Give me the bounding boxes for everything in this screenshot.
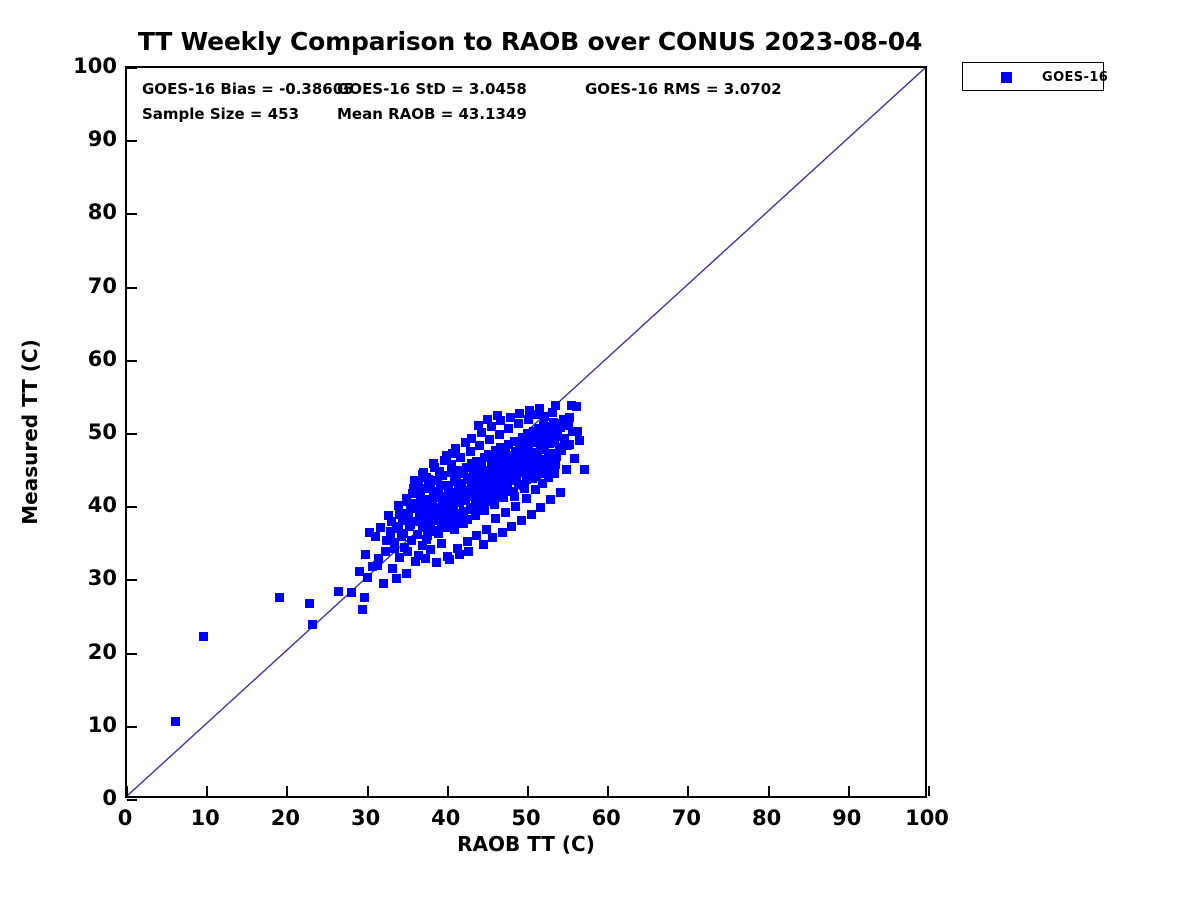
y-tick bbox=[127, 287, 137, 289]
data-point bbox=[505, 454, 514, 463]
y-tick bbox=[127, 653, 137, 655]
x-tick bbox=[447, 786, 449, 796]
y-tick-label: 40 bbox=[88, 493, 117, 517]
x-tick bbox=[848, 786, 850, 796]
data-point bbox=[575, 436, 584, 445]
data-point bbox=[450, 525, 459, 534]
y-tick bbox=[127, 579, 137, 581]
x-tick bbox=[687, 786, 689, 796]
y-tick bbox=[127, 360, 137, 362]
data-point bbox=[355, 567, 364, 576]
y-tick bbox=[127, 433, 137, 435]
data-point bbox=[361, 550, 370, 559]
data-point bbox=[422, 535, 431, 544]
data-point bbox=[488, 533, 497, 542]
x-tick-label: 100 bbox=[905, 806, 949, 830]
data-point bbox=[486, 466, 495, 475]
x-tick bbox=[928, 786, 930, 796]
data-point bbox=[467, 479, 476, 488]
data-point bbox=[531, 485, 540, 494]
data-point bbox=[445, 555, 454, 564]
data-point bbox=[562, 465, 571, 474]
x-tick-label: 50 bbox=[511, 806, 540, 830]
data-point bbox=[483, 495, 492, 504]
data-point bbox=[426, 545, 435, 554]
data-point bbox=[199, 632, 208, 641]
plot-frame bbox=[125, 66, 927, 798]
data-point bbox=[536, 503, 545, 512]
data-point bbox=[469, 503, 478, 512]
data-point bbox=[379, 579, 388, 588]
y-tick bbox=[127, 726, 137, 728]
data-point bbox=[507, 522, 516, 531]
data-point bbox=[447, 490, 456, 499]
data-point bbox=[475, 441, 484, 450]
x-tick bbox=[286, 786, 288, 796]
data-point bbox=[305, 599, 314, 608]
x-tick bbox=[768, 786, 770, 796]
data-point bbox=[463, 537, 472, 546]
data-point bbox=[437, 539, 446, 548]
legend-box: GOES-16 bbox=[962, 62, 1104, 91]
data-point bbox=[563, 441, 572, 450]
data-point bbox=[476, 473, 485, 482]
data-point bbox=[515, 448, 524, 457]
x-tick-label: 60 bbox=[592, 806, 621, 830]
data-point bbox=[402, 497, 411, 506]
data-point bbox=[457, 484, 466, 493]
data-point bbox=[438, 521, 447, 530]
x-tick-label: 80 bbox=[752, 806, 781, 830]
data-point bbox=[428, 502, 437, 511]
data-point bbox=[506, 413, 515, 422]
data-point bbox=[374, 554, 383, 563]
data-point bbox=[534, 436, 543, 445]
data-point bbox=[360, 593, 369, 602]
data-point bbox=[556, 488, 565, 497]
data-point bbox=[414, 551, 423, 560]
data-point bbox=[459, 519, 468, 528]
data-point bbox=[572, 402, 581, 411]
data-point bbox=[541, 466, 550, 475]
data-point bbox=[432, 558, 441, 567]
data-point bbox=[501, 508, 510, 517]
y-tick-label: 100 bbox=[73, 54, 117, 78]
annotation-rms: GOES-16 RMS = 3.0702 bbox=[585, 80, 782, 98]
data-point bbox=[461, 438, 470, 447]
data-point bbox=[455, 550, 464, 559]
data-point bbox=[524, 442, 533, 451]
data-point bbox=[510, 492, 519, 501]
x-tick bbox=[607, 786, 609, 796]
data-point bbox=[464, 547, 473, 556]
data-point bbox=[503, 482, 512, 491]
data-point bbox=[403, 547, 412, 556]
data-point bbox=[542, 455, 551, 464]
data-point bbox=[504, 424, 513, 433]
legend-swatch-goes-16 bbox=[1001, 72, 1012, 83]
plot-area bbox=[127, 68, 925, 796]
y-tick bbox=[127, 799, 137, 801]
data-point bbox=[514, 419, 523, 428]
data-point bbox=[483, 415, 492, 424]
y-tick-label: 30 bbox=[88, 566, 117, 590]
data-point bbox=[334, 587, 343, 596]
data-point bbox=[440, 456, 449, 465]
data-point bbox=[540, 412, 549, 421]
x-tick bbox=[206, 786, 208, 796]
x-tick-label: 20 bbox=[271, 806, 300, 830]
y-tick bbox=[127, 506, 137, 508]
data-point bbox=[358, 605, 367, 614]
data-point bbox=[451, 515, 460, 524]
annotation-bias: GOES-16 Bias = -0.38605 bbox=[142, 80, 354, 98]
annotation-mean-raob: Mean RAOB = 43.1349 bbox=[337, 105, 527, 123]
data-point bbox=[456, 453, 465, 462]
data-point bbox=[570, 454, 579, 463]
data-point bbox=[544, 430, 553, 439]
data-point bbox=[392, 574, 401, 583]
data-point bbox=[408, 489, 417, 498]
data-point bbox=[474, 421, 483, 430]
data-point bbox=[532, 472, 541, 481]
x-tick bbox=[367, 786, 369, 796]
data-point bbox=[308, 620, 317, 629]
x-tick-label: 70 bbox=[672, 806, 701, 830]
data-point bbox=[573, 427, 582, 436]
data-point bbox=[580, 465, 589, 474]
data-point bbox=[480, 506, 489, 515]
data-point bbox=[559, 419, 568, 428]
y-axis-label: Measured TT (C) bbox=[18, 339, 42, 524]
data-point bbox=[517, 516, 526, 525]
data-point bbox=[419, 468, 428, 477]
y-tick-label: 50 bbox=[88, 420, 117, 444]
data-point bbox=[495, 460, 504, 469]
data-point bbox=[479, 540, 488, 549]
data-point bbox=[493, 411, 502, 420]
data-point bbox=[371, 532, 380, 541]
data-point bbox=[525, 406, 534, 415]
y-tick-label: 0 bbox=[102, 786, 117, 810]
y-tick-label: 80 bbox=[88, 200, 117, 224]
y-tick-label: 10 bbox=[88, 713, 117, 737]
x-tick-label: 30 bbox=[351, 806, 380, 830]
data-point bbox=[376, 523, 385, 532]
scatter-plot-figure: TT Weekly Comparison to RAOB over CONUS … bbox=[0, 0, 1200, 900]
data-point bbox=[491, 514, 500, 523]
data-point bbox=[275, 593, 284, 602]
data-point bbox=[471, 511, 480, 520]
data-point bbox=[363, 573, 372, 582]
data-point bbox=[551, 460, 560, 469]
data-point bbox=[412, 503, 421, 512]
data-point bbox=[522, 494, 531, 503]
data-point bbox=[402, 569, 411, 578]
data-point bbox=[546, 495, 555, 504]
data-point bbox=[386, 531, 395, 540]
x-tick bbox=[126, 786, 128, 796]
data-point bbox=[552, 449, 561, 458]
y-tick bbox=[127, 140, 137, 142]
y-tick-label: 90 bbox=[88, 127, 117, 151]
y-tick-label: 20 bbox=[88, 640, 117, 664]
y-tick-label: 60 bbox=[88, 347, 117, 371]
data-point bbox=[416, 515, 425, 524]
data-point bbox=[532, 462, 541, 471]
data-point bbox=[482, 525, 491, 534]
data-point bbox=[466, 447, 475, 456]
data-point bbox=[410, 476, 419, 485]
data-point bbox=[420, 495, 429, 504]
page-title: TT Weekly Comparison to RAOB over CONUS … bbox=[125, 27, 935, 56]
y-tick bbox=[127, 213, 137, 215]
data-point bbox=[438, 496, 447, 505]
data-point bbox=[347, 588, 356, 597]
legend-label-goes-16: GOES-16 bbox=[1042, 70, 1108, 85]
x-tick-label: 0 bbox=[118, 806, 133, 830]
data-point bbox=[394, 524, 403, 533]
data-point bbox=[515, 409, 524, 418]
data-point bbox=[511, 502, 520, 511]
data-point bbox=[527, 510, 536, 519]
x-tick bbox=[527, 786, 529, 796]
y-tick-label: 70 bbox=[88, 274, 117, 298]
annotation-sample-size: Sample Size = 453 bbox=[142, 105, 299, 123]
data-point bbox=[171, 717, 180, 726]
x-tick-label: 40 bbox=[431, 806, 460, 830]
data-point bbox=[492, 489, 501, 498]
x-tick-label: 90 bbox=[832, 806, 861, 830]
x-tick-label: 10 bbox=[191, 806, 220, 830]
data-point bbox=[401, 509, 410, 518]
data-point bbox=[448, 449, 457, 458]
annotation-std: GOES-16 StD = 3.0458 bbox=[337, 80, 527, 98]
data-point bbox=[472, 531, 481, 540]
x-axis-label: RAOB TT (C) bbox=[125, 832, 927, 856]
data-point bbox=[523, 470, 532, 479]
y-tick bbox=[127, 67, 137, 69]
data-point bbox=[498, 528, 507, 537]
data-point bbox=[520, 484, 529, 493]
data-point bbox=[548, 408, 557, 417]
data-point bbox=[524, 415, 533, 424]
data-point bbox=[485, 435, 494, 444]
data-point bbox=[388, 564, 397, 573]
data-point bbox=[429, 459, 438, 468]
data-point bbox=[495, 430, 504, 439]
data-point bbox=[427, 527, 436, 536]
